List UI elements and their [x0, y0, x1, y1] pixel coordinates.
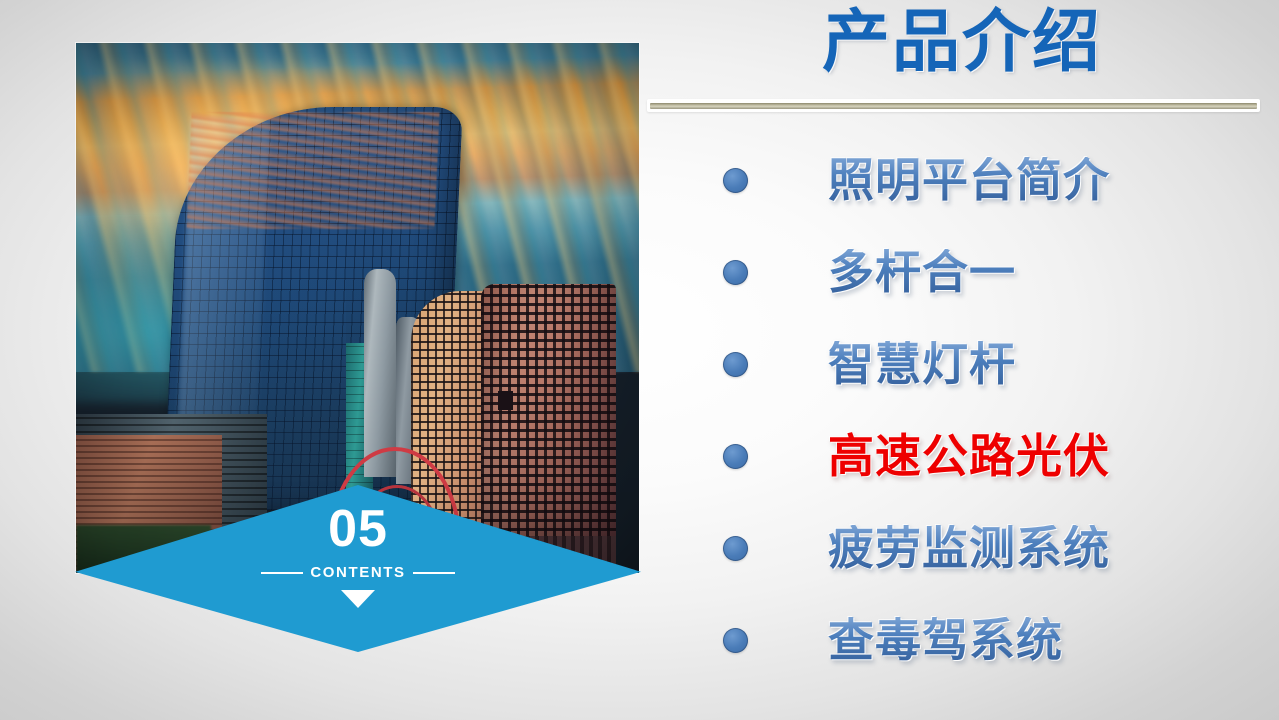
- bullet-dot-icon: [723, 168, 748, 193]
- contents-rule-right: [413, 572, 455, 574]
- contents-label-row: CONTENTS: [261, 564, 454, 581]
- page-title: 产品介绍: [645, 5, 1279, 80]
- contents-label: CONTENTS: [310, 564, 405, 581]
- list-item-label: 多杆合一: [828, 249, 1016, 295]
- list-item-label: 照明平台简介: [828, 157, 1110, 203]
- list-item-label: 疲劳监测系统: [828, 525, 1110, 571]
- bullet-list: 照明平台简介 多杆合一 智慧灯杆 高速公路光伏 疲劳监测系统 查毒驾系统: [645, 134, 1279, 686]
- bullet-dot-icon: [723, 260, 748, 285]
- list-item-label: 智慧灯杆: [828, 341, 1016, 387]
- bullet-dot-icon: [723, 628, 748, 653]
- right-content-panel: 产品介绍 照明平台简介 多杆合一 智慧灯杆 高速公路光伏: [645, 0, 1279, 720]
- silver-tower-shape: [364, 269, 396, 477]
- bullet-dot-icon: [723, 444, 748, 469]
- bullet-dot-icon: [723, 536, 748, 561]
- triangle-down-icon: [341, 590, 375, 608]
- list-item[interactable]: 疲劳监测系统: [645, 502, 1279, 594]
- list-item[interactable]: 照明平台简介: [645, 134, 1279, 226]
- list-item-label: 查毒驾系统: [828, 617, 1063, 663]
- list-item-label-highlighted: 高速公路光伏: [828, 433, 1110, 479]
- contents-rule-left: [261, 572, 303, 574]
- presentation-slide: 05 CONTENTS 产品介绍 照明平台简介 多杆合一: [0, 0, 1279, 720]
- title-divider-bar: [650, 103, 1257, 109]
- list-item[interactable]: 智慧灯杆: [645, 318, 1279, 410]
- large-facade-tower-shape: [481, 284, 616, 559]
- tower-notch-shape: [498, 391, 513, 410]
- list-item[interactable]: 高速公路光伏: [645, 410, 1279, 502]
- title-divider: [647, 99, 1260, 112]
- contents-number: 05: [328, 503, 388, 555]
- bullet-dot-icon: [723, 352, 748, 377]
- list-item[interactable]: 查毒驾系统: [645, 594, 1279, 686]
- list-item[interactable]: 多杆合一: [645, 226, 1279, 318]
